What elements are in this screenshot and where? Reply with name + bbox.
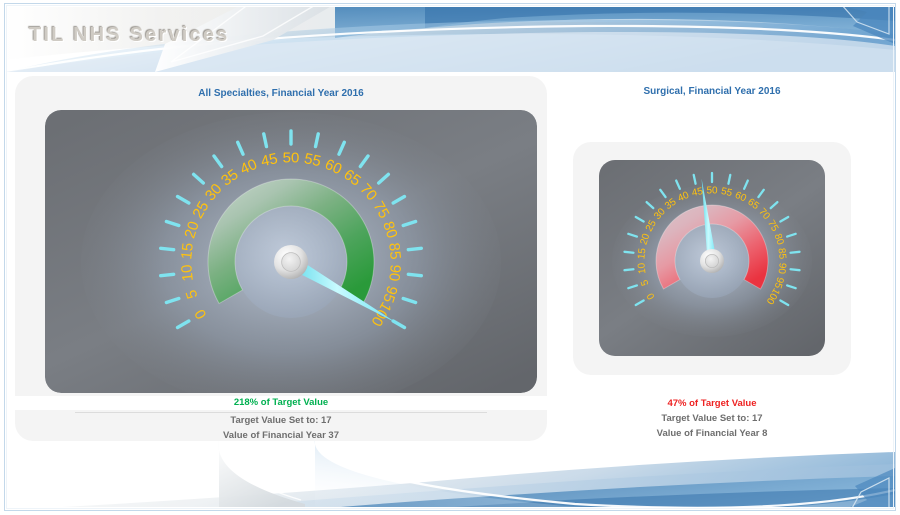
gauge-tick-label: 50 bbox=[706, 186, 718, 197]
footer-separator bbox=[75, 412, 487, 413]
gauge-tick bbox=[161, 248, 174, 249]
gauge-face-surgical: 0510152025303540455055606570758085909510… bbox=[599, 160, 825, 356]
gauge-hub-center bbox=[705, 254, 718, 267]
gauge-percent-surgical: 47% of Target Value bbox=[573, 397, 851, 411]
gauge-tick bbox=[791, 269, 800, 270]
gauge-tick-label: 90 bbox=[776, 262, 788, 275]
gauge-tick bbox=[791, 252, 800, 253]
gauge-tick bbox=[624, 269, 633, 270]
gauge-tick-label: 10 bbox=[178, 264, 197, 282]
gauge-tick-label: 15 bbox=[636, 247, 648, 260]
gauge-card-surgical[interactable]: 0510152025303540455055606570758085909510… bbox=[573, 142, 851, 375]
app-title: TIL NHS Services bbox=[29, 24, 229, 47]
gauge-percent-all-specialties: 218% of Target Value bbox=[15, 396, 547, 410]
gauge-target-surgical: Target Value Set to: 17 bbox=[573, 412, 851, 426]
gauge-title-all-specialties: All Specialties, Financial Year 2016 bbox=[15, 88, 547, 99]
dashboard-page: TIL NHS Services bbox=[0, 0, 900, 515]
gauge-tick-label: 85 bbox=[776, 248, 788, 261]
gauge-card-all-specialties[interactable]: All Specialties, Financial Year 2016 bbox=[15, 76, 547, 441]
gauge-tick-label: 15 bbox=[178, 242, 197, 260]
gauge-value-surgical: Value of Financial Year 8 bbox=[573, 427, 851, 441]
gauge-tick-label: 55 bbox=[303, 150, 323, 170]
gauge-tick-label: 50 bbox=[283, 150, 300, 167]
gauge-tick-label: 10 bbox=[636, 262, 648, 275]
footer-decorative-banner bbox=[5, 438, 895, 510]
gauge-tick bbox=[624, 252, 633, 253]
gauge-tick-label: 90 bbox=[385, 264, 404, 282]
gauge-tick-label: 45 bbox=[259, 150, 279, 170]
gauge-tick bbox=[408, 274, 421, 275]
gauge-value-all-specialties: Value of Financial Year 37 bbox=[15, 429, 547, 443]
gauge-tick bbox=[408, 248, 421, 249]
gauge-face-all-specialties: 0510152025303540455055606570758085909510… bbox=[45, 110, 537, 393]
gauge-tick bbox=[161, 274, 174, 275]
gauge-hub-center bbox=[282, 253, 301, 272]
page-frame: TIL NHS Services bbox=[4, 3, 896, 511]
gauge-title-surgical: Surgical, Financial Year 2016 bbox=[573, 86, 851, 97]
gauge-target-all-specialties: Target Value Set to: 17 bbox=[15, 414, 547, 428]
gauge-tick-label: 85 bbox=[385, 242, 404, 260]
